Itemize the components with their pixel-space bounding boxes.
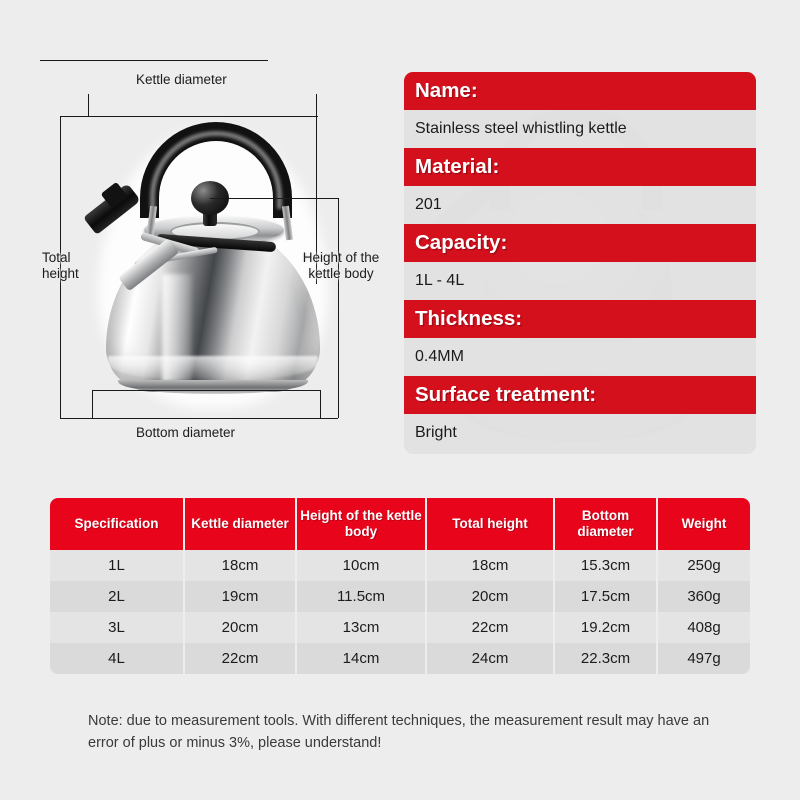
cell-bottom-diameter: 22.3cm: [555, 643, 658, 674]
label-kettle-diameter: Kettle diameter: [136, 72, 227, 88]
table-header-row: Specification Kettle diameter Height of …: [50, 498, 750, 550]
guide-bottom-diameter-right: [320, 390, 321, 418]
cell-bottom-diameter: 17.5cm: [555, 581, 658, 612]
spec-label-thickness: Thickness:: [404, 300, 756, 338]
cell-weight: 408g: [658, 612, 750, 643]
top-section: Kettle diameter Total height Height of t…: [0, 0, 800, 470]
cell-specification: 3L: [50, 612, 185, 643]
cell-total-height: 24cm: [427, 643, 555, 674]
spec-value-name: Stainless steel whistling kettle: [404, 110, 756, 148]
size-table-container: Specification Kettle diameter Height of …: [50, 498, 750, 674]
col-header-height-of-kettle-body: Height of the kettle body: [297, 498, 427, 550]
kettle-base-rim: [118, 380, 308, 394]
cell-kettle-diameter: 22cm: [185, 643, 297, 674]
table-row: 1L 18cm 10cm 18cm 15.3cm 250g: [50, 550, 750, 581]
cell-height-of-kettle-body: 13cm: [297, 612, 427, 643]
cell-specification: 1L: [50, 550, 185, 581]
cell-bottom-diameter: 19.2cm: [555, 612, 658, 643]
guide-kettle-diameter-top: [40, 60, 268, 61]
guide-body-height-top: [210, 198, 338, 199]
spec-label-name: Name:: [404, 72, 756, 110]
col-header-total-height: Total height: [427, 498, 555, 550]
spec-value-capacity: 1L - 4L: [404, 262, 756, 300]
specification-rows: Name: Stainless steel whistling kettle M…: [404, 72, 756, 454]
size-table: Specification Kettle diameter Height of …: [50, 498, 750, 674]
table-row: 4L 22cm 14cm 24cm 22.3cm 497g: [50, 643, 750, 674]
specification-panel: Name: Stainless steel whistling kettle M…: [404, 72, 756, 454]
cell-specification: 2L: [50, 581, 185, 612]
table-row: 3L 20cm 13cm 22cm 19.2cm 408g: [50, 612, 750, 643]
product-diagram: Kettle diameter Total height Height of t…: [40, 60, 390, 460]
table-row: 2L 19cm 11.5cm 20cm 17.5cm 360g: [50, 581, 750, 612]
cell-specification: 4L: [50, 643, 185, 674]
col-header-kettle-diameter: Kettle diameter: [185, 498, 297, 550]
cell-kettle-diameter: 19cm: [185, 581, 297, 612]
guide-kettle-diameter-left: [88, 94, 89, 116]
col-header-weight: Weight: [658, 498, 750, 550]
label-bottom-diameter: Bottom diameter: [136, 425, 235, 441]
size-table-body: 1L 18cm 10cm 18cm 15.3cm 250g 2L 19cm 11…: [50, 550, 750, 674]
col-header-specification: Specification: [50, 498, 185, 550]
spec-label-capacity: Capacity:: [404, 224, 756, 262]
label-total-height: Total height: [42, 250, 102, 282]
cell-height-of-kettle-body: 14cm: [297, 643, 427, 674]
spec-value-thickness: 0.4MM: [404, 338, 756, 376]
cell-total-height: 22cm: [427, 612, 555, 643]
spec-value-surface-treatment: Bright: [404, 414, 756, 452]
size-table-head: Specification Kettle diameter Height of …: [50, 498, 750, 550]
cell-weight: 497g: [658, 643, 750, 674]
col-header-bottom-diameter: Bottom diameter: [555, 498, 658, 550]
measurement-note: Note: due to measurement tools. With dif…: [88, 710, 728, 755]
spec-label-material: Material:: [404, 148, 756, 186]
spec-label-surface-treatment: Surface treatment:: [404, 376, 756, 414]
cell-bottom-diameter: 15.3cm: [555, 550, 658, 581]
guide-total-height-top: [60, 116, 318, 117]
cell-kettle-diameter: 20cm: [185, 612, 297, 643]
label-height-of-kettle-body: Height of the kettle body: [292, 250, 390, 282]
cell-height-of-kettle-body: 11.5cm: [297, 581, 427, 612]
cell-weight: 360g: [658, 581, 750, 612]
cell-weight: 250g: [658, 550, 750, 581]
cell-height-of-kettle-body: 10cm: [297, 550, 427, 581]
cell-kettle-diameter: 18cm: [185, 550, 297, 581]
cell-total-height: 18cm: [427, 550, 555, 581]
guide-body-height-right: [338, 198, 339, 418]
guide-bottom-diameter-bottom: [92, 418, 320, 419]
guide-bottom-diameter-left: [92, 390, 93, 418]
cell-total-height: 20cm: [427, 581, 555, 612]
spec-value-material: 201: [404, 186, 756, 224]
guide-bottom-diameter-top: [92, 390, 320, 391]
